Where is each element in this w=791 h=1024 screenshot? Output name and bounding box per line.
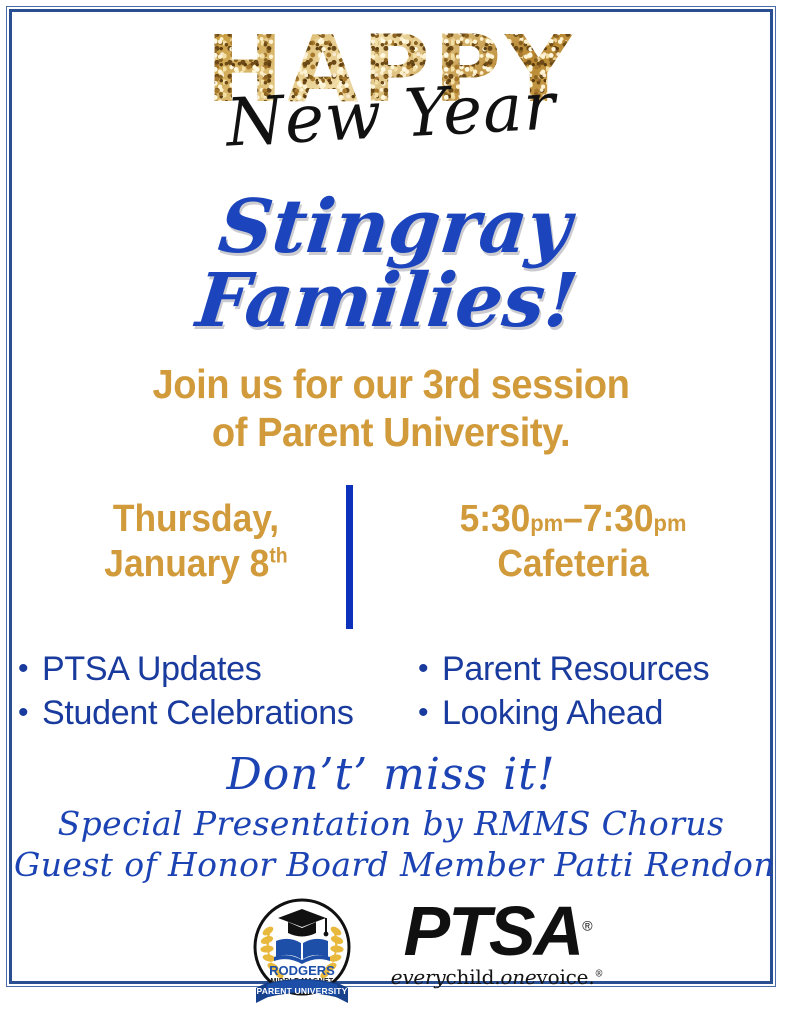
- intro-paragraph: Join us for our 3rd session of Parent Un…: [40, 360, 741, 457]
- bullet-icon: •: [418, 698, 442, 728]
- closing-line-1: Special Presentation by RMMS Chorus: [14, 804, 768, 844]
- list-item: •PTSA Updates: [18, 647, 354, 691]
- event-location: Cafeteria: [392, 542, 755, 588]
- list-item-label: Parent Resources: [442, 650, 709, 688]
- tagline-registered-mark: ®: [594, 970, 603, 980]
- closing-line-2: Guest of Honor Board Member Patti Rendon: [14, 845, 768, 885]
- seal-icon: RODGERS MIDDLE MAGNET PARENT UNIVERSITY: [246, 893, 358, 1005]
- closing-callout: Don’t’ miss it!: [14, 751, 768, 799]
- rodgers-parent-university-seal: RODGERS MIDDLE MAGNET PARENT UNIVERSITY: [246, 893, 358, 1005]
- event-time-line: 5:30pm–7:30pm: [392, 497, 755, 543]
- seal-school-name: RODGERS: [269, 963, 335, 978]
- list-item-label: Student Celebrations: [42, 694, 354, 732]
- flyer-content: HAPPY HAPPY New Year Stingray Families! …: [14, 14, 768, 979]
- event-date-weekday: Thursday,: [47, 497, 345, 543]
- event-date-ordinal-suffix: th: [269, 545, 287, 568]
- vertical-divider: [346, 485, 353, 629]
- event-time-end-ampm: pm: [654, 510, 687, 536]
- ptsa-wordmark: PTSA®: [382, 899, 612, 963]
- agenda-column-left: •PTSA Updates •Student Celebrations: [18, 647, 354, 735]
- event-time-dash: –: [563, 498, 583, 540]
- agenda-column-right: •Parent Resources •Looking Ahead: [418, 647, 709, 735]
- event-date-monthday: January 8: [104, 543, 269, 585]
- list-item: •Looking Ahead: [418, 691, 709, 735]
- event-details-row: Thursday, January 8th 5:30pm–7:30pm Cafe…: [14, 481, 768, 631]
- list-item: •Student Celebrations: [18, 691, 354, 735]
- seal-banner-text: PARENT UNIVERSITY: [256, 986, 347, 996]
- flyer-page: HAPPY HAPPY New Year Stingray Families! …: [0, 0, 791, 1024]
- event-time-end: 7:30: [583, 498, 654, 540]
- intro-line-2: of Parent University.: [40, 408, 741, 456]
- ptsa-wordmark-text: PTSA: [403, 892, 582, 970]
- bullet-icon: •: [18, 654, 42, 684]
- happy-new-year-graphic: HAPPY HAPPY New Year: [14, 16, 768, 184]
- list-item: •Parent Resources: [418, 647, 709, 691]
- agenda-list: •PTSA Updates •Student Celebrations •Par…: [14, 647, 768, 743]
- list-item-label: Looking Ahead: [442, 694, 663, 732]
- bullet-icon: •: [18, 698, 42, 728]
- ptsa-registered-mark: ®: [582, 917, 590, 933]
- bullet-icon: •: [418, 654, 442, 684]
- event-time-start: 5:30: [460, 498, 531, 540]
- event-time-start-ampm: pm: [530, 510, 563, 536]
- logo-row: RODGERS MIDDLE MAGNET PARENT UNIVERSITY …: [14, 893, 768, 1015]
- new-year-label: New Year: [224, 67, 558, 161]
- list-item-label: PTSA Updates: [42, 650, 261, 688]
- event-date-line: January 8th: [47, 542, 345, 588]
- page-title: Stingray Families!: [6, 190, 776, 338]
- event-date-block: Thursday, January 8th: [47, 497, 345, 588]
- intro-line-1: Join us for our 3rd session: [40, 360, 741, 408]
- event-time-block: 5:30pm–7:30pm Cafeteria: [392, 497, 755, 588]
- ptsa-logo: PTSA® everychild.onevoice.®: [382, 899, 612, 999]
